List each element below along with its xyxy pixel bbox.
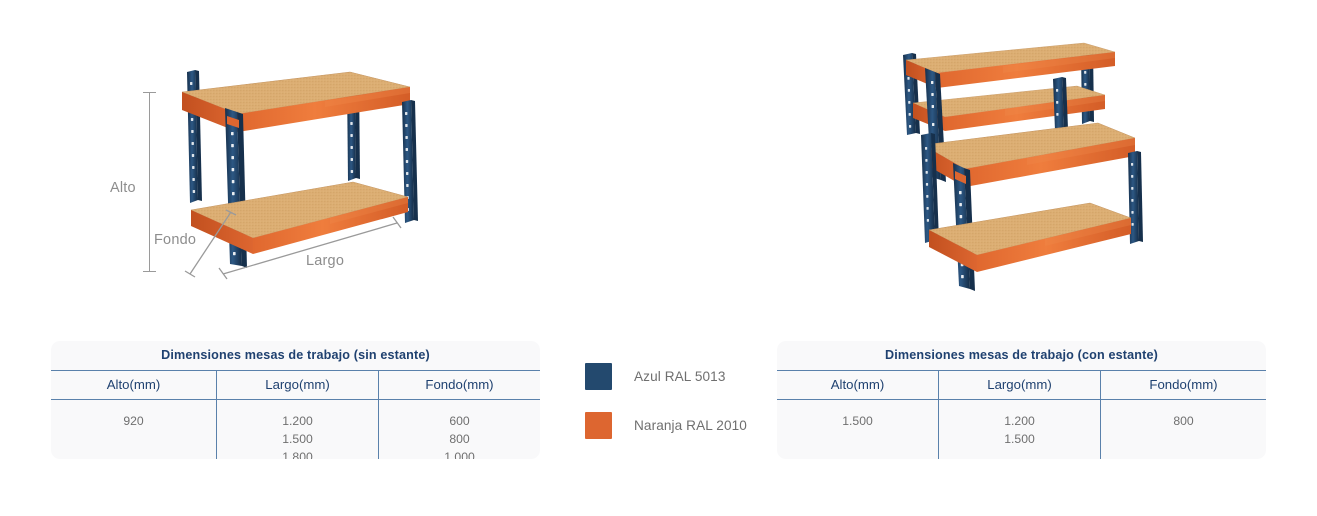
value-fondo-1: 600: [379, 412, 540, 430]
value-alto-1: 1.500: [777, 412, 938, 430]
table-cell-largo-con-estante: 1.200 1.500: [938, 400, 1100, 459]
value-largo-2: 1.500: [939, 430, 1100, 448]
workbench-with-shelf-svg: [885, 35, 1155, 305]
table-cell-alto-con-estante: 1.500: [777, 400, 938, 459]
workbench-with-shelf-illustration: [885, 35, 1155, 305]
value-largo-2: 1.500: [217, 430, 378, 448]
value-largo-3: 1.800: [217, 448, 378, 459]
table-title-sin-estante: Dimensiones mesas de trabajo (sin estant…: [51, 341, 540, 370]
legend-item-azul: Azul RAL 5013: [585, 363, 725, 390]
dimension-line-largo: [215, 214, 405, 282]
legend-label-naranja: Naranja RAL 2010: [634, 418, 747, 433]
table-header-largo-con-estante: Largo(mm): [938, 371, 1100, 399]
table-header-alto-con-estante: Alto(mm): [777, 371, 938, 399]
top-shelf: [182, 72, 410, 132]
table-header-row-sin-estante: Alto(mm) Largo(mm) Fondo(mm): [51, 370, 540, 400]
value-fondo-3: 1.000: [379, 448, 540, 459]
value-largo-1: 1.200: [217, 412, 378, 430]
dimensions-table-sin-estante: Dimensiones mesas de trabajo (sin estant…: [51, 341, 540, 459]
value-fondo-2: 800: [379, 430, 540, 448]
table-header-alto-sin-estante: Alto(mm): [51, 371, 216, 399]
table-body-con-estante: 1.500 1.200 1.500 800: [777, 400, 1266, 459]
table-header-fondo-sin-estante: Fondo(mm): [378, 371, 540, 399]
table-cell-fondo-con-estante: 800: [1100, 400, 1266, 459]
table-cell-fondo-sin-estante: 600 800 1.000: [378, 400, 540, 459]
table-cell-alto-sin-estante: 920: [51, 400, 216, 459]
orange-swatch: [585, 412, 612, 439]
dimension-tick-alto-top: [143, 92, 156, 93]
blue-swatch: [585, 363, 612, 390]
dimension-label-largo: Largo: [306, 254, 344, 269]
dimension-line-alto: [149, 92, 150, 272]
table-body-sin-estante: 920 1.200 1.500 1.800 600 800 1.000: [51, 400, 540, 459]
table-cell-largo-sin-estante: 1.200 1.500 1.800: [216, 400, 378, 459]
page-canvas: Alto Fondo Largo: [0, 0, 1317, 516]
dimension-tick-alto-bottom: [143, 271, 156, 272]
legend-item-naranja: Naranja RAL 2010: [585, 412, 747, 439]
value-largo-1: 1.200: [939, 412, 1100, 430]
table-header-fondo-con-estante: Fondo(mm): [1100, 371, 1266, 399]
dimension-label-fondo: Fondo: [154, 233, 196, 248]
table-title-con-estante: Dimensiones mesas de trabajo (con estant…: [777, 341, 1266, 370]
dimensions-table-con-estante: Dimensiones mesas de trabajo (con estant…: [777, 341, 1266, 459]
table-header-largo-sin-estante: Largo(mm): [216, 371, 378, 399]
legend-label-azul: Azul RAL 5013: [634, 369, 725, 384]
value-alto-1: 920: [51, 412, 216, 430]
table-header-row-con-estante: Alto(mm) Largo(mm) Fondo(mm): [777, 370, 1266, 400]
value-fondo-1: 800: [1101, 412, 1266, 430]
dimension-label-alto: Alto: [110, 181, 136, 196]
